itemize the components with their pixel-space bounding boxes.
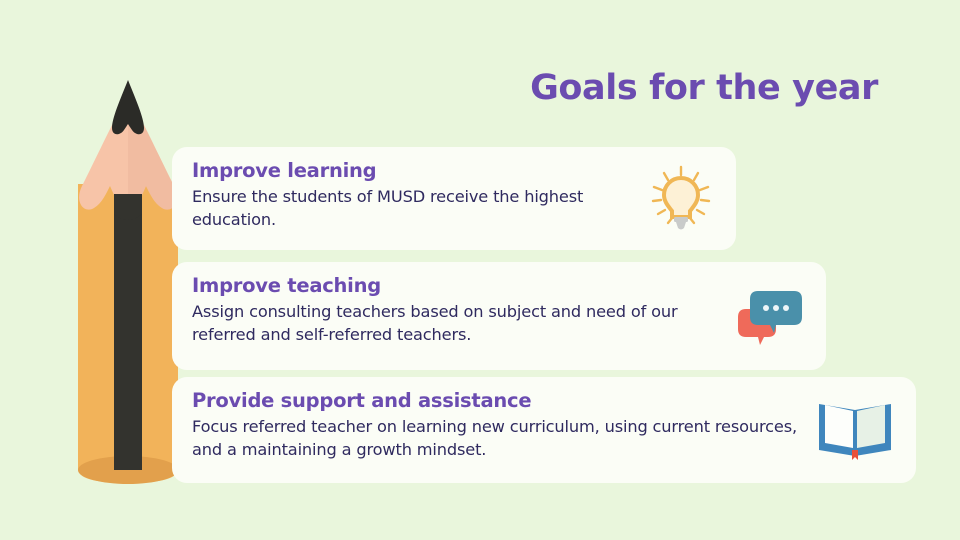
goal-card-text: Improve learning Ensure the students of … — [192, 159, 626, 231]
goal-card[interactable]: Provide support and assistance Focus ref… — [172, 377, 916, 483]
lightbulb-icon — [650, 165, 712, 233]
goal-card-heading: Improve learning — [192, 159, 626, 182]
goal-card-body: Focus referred teacher on learning new c… — [192, 415, 806, 461]
pencil-illustration — [70, 74, 186, 489]
goal-card-text: Provide support and assistance Focus ref… — [192, 389, 806, 461]
slide-canvas: Goals for the year Improve learning Ensu… — [0, 0, 960, 540]
goal-card-text: Improve teaching Assign consulting teach… — [192, 274, 716, 346]
open-book-icon — [816, 400, 894, 460]
goal-card-body: Assign consulting teachers based on subj… — [192, 300, 716, 346]
goal-card[interactable]: Improve learning Ensure the students of … — [172, 147, 736, 250]
goal-card[interactable]: Improve teaching Assign consulting teach… — [172, 262, 826, 370]
page-title: Goals for the year — [530, 68, 878, 108]
goal-card-body: Ensure the students of MUSD receive the … — [192, 185, 626, 231]
goal-card-heading: Provide support and assistance — [192, 389, 806, 412]
speech-bubbles-icon — [734, 285, 804, 347]
goal-card-heading: Improve teaching — [192, 274, 716, 297]
